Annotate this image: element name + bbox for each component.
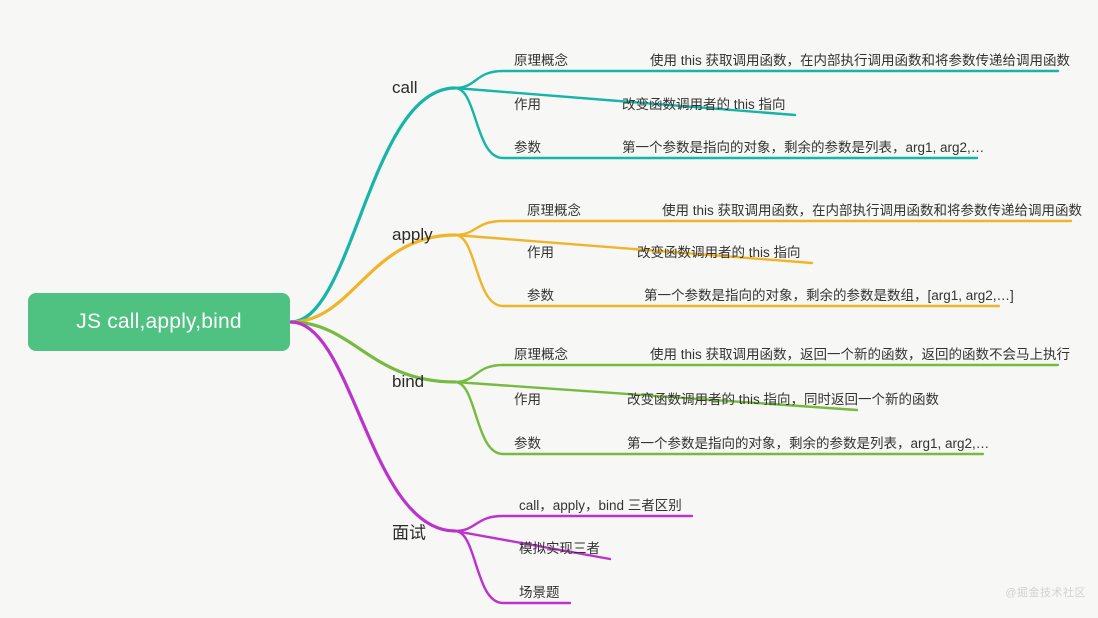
sub-label-1-2[interactable]: 作用 — [514, 93, 541, 113]
branch-label-1[interactable]: call — [392, 78, 418, 98]
root-node-label: JS call,apply,bind — [76, 310, 241, 334]
branch-label-2[interactable]: apply — [392, 225, 433, 245]
leaf-detail-3-1[interactable]: 使用 this 获取调用函数，返回一个新的函数，返回的函数不会马上执行 — [650, 343, 1070, 363]
branch-label-4[interactable]: 面试 — [392, 519, 426, 544]
sub-label-3-2[interactable]: 作用 — [514, 388, 541, 408]
mindmap-edge — [291, 322, 455, 531]
leaf-detail-1-2[interactable]: 改变函数调用者的 this 指向 — [622, 93, 786, 113]
sub-label-4-2[interactable]: 模拟实现三者 — [519, 537, 600, 557]
mindmap-canvas: JS call,apply,bind call原理概念使用 this 获取调用函… — [0, 0, 1098, 618]
sub-label-4-3[interactable]: 场景题 — [519, 581, 560, 601]
sub-label-2-2[interactable]: 作用 — [527, 241, 554, 261]
mindmap-edge — [455, 71, 1058, 88]
sub-label-3-3[interactable]: 参数 — [514, 432, 541, 452]
leaf-detail-1-3[interactable]: 第一个参数是指向的对象，剩余的参数是列表，arg1, arg2,… — [622, 136, 984, 156]
sub-label-1-3[interactable]: 参数 — [514, 136, 541, 156]
sub-label-4-1[interactable]: call，apply，bind 三者区别 — [519, 494, 682, 514]
watermark: @掘金技术社区 — [1005, 584, 1086, 600]
mindmap-edge — [291, 322, 455, 382]
leaf-detail-2-1[interactable]: 使用 this 获取调用函数，在内部执行调用函数和将参数传递给调用函数 — [662, 199, 1082, 219]
leaf-detail-2-2[interactable]: 改变函数调用者的 this 指向 — [637, 241, 801, 261]
leaf-detail-2-3[interactable]: 第一个参数是指向的对象，剩余的参数是数组，[arg1, arg2,…] — [644, 284, 1014, 304]
leaf-detail-1-1[interactable]: 使用 this 获取调用函数，在内部执行调用函数和将参数传递给调用函数 — [650, 49, 1070, 69]
mindmap-edge — [455, 516, 692, 531]
branch-label-3[interactable]: bind — [392, 372, 424, 392]
sub-label-2-3[interactable]: 参数 — [527, 284, 554, 304]
mindmap-edge — [455, 221, 1071, 235]
mindmap-edge — [455, 365, 1058, 382]
leaf-detail-3-2[interactable]: 改变函数调用者的 this 指向，同时返回一个新的函数 — [627, 388, 939, 408]
leaf-detail-3-3[interactable]: 第一个参数是指向的对象，剩余的参数是列表，arg1, arg2,… — [627, 432, 989, 452]
mindmap-edge — [291, 235, 455, 322]
sub-label-1-1[interactable]: 原理概念 — [514, 49, 568, 69]
sub-label-2-1[interactable]: 原理概念 — [527, 199, 581, 219]
sub-label-3-1[interactable]: 原理概念 — [514, 343, 568, 363]
mindmap-edge — [291, 88, 455, 322]
root-node[interactable]: JS call,apply,bind — [28, 293, 290, 351]
